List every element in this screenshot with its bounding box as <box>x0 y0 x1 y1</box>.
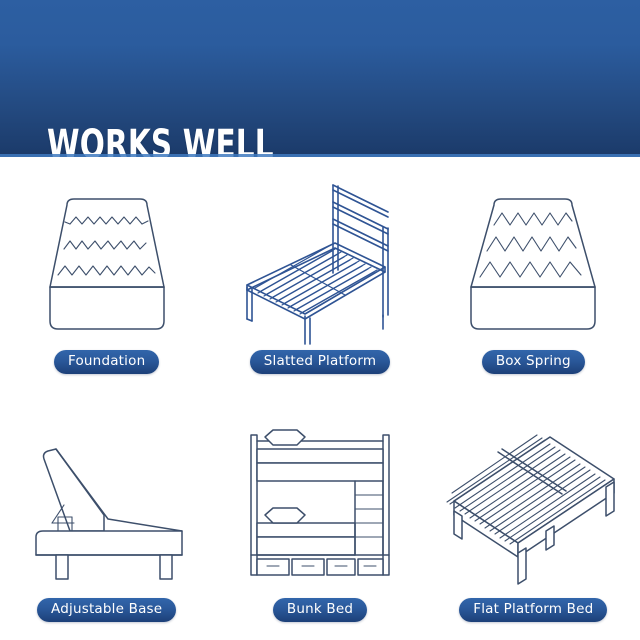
base-card-flat-platform-bed[interactable]: Flat Platform Bed <box>427 399 640 640</box>
page-title: WORKS WELL WITH THESE BASES <box>47 28 373 157</box>
base-label-box-spring: Box Spring <box>482 350 585 374</box>
works-well-with-these-bases-graphic: WORKS WELL WITH THESE BASES Foundation <box>0 0 640 640</box>
base-card-slatted-platform[interactable]: Slatted Platform <box>213 157 426 399</box>
mattress-foundation-icon <box>12 169 202 344</box>
flat-platform-bed-icon <box>438 419 628 594</box>
base-label-bunk-bed: Bunk Bed <box>273 598 367 622</box>
base-label-foundation: Foundation <box>54 350 159 374</box>
base-label-flat-platform-bed: Flat Platform Bed <box>459 598 607 622</box>
box-spring-icon <box>438 169 628 344</box>
base-card-foundation[interactable]: Foundation <box>0 157 213 399</box>
page-title-line-1: WORKS WELL <box>47 122 373 157</box>
base-card-box-spring[interactable]: Box Spring <box>427 157 640 399</box>
header-banner: WORKS WELL WITH THESE BASES <box>0 0 640 157</box>
base-card-adjustable-base[interactable]: Adjustable Base <box>0 399 213 640</box>
bases-grid: Foundation <box>0 157 640 640</box>
base-label-adjustable-base: Adjustable Base <box>37 598 176 622</box>
bunk-bed-icon <box>225 419 415 594</box>
adjustable-base-icon <box>12 419 202 594</box>
base-card-bunk-bed[interactable]: Bunk Bed <box>213 399 426 640</box>
slatted-platform-bed-icon <box>225 169 415 344</box>
base-label-slatted-platform: Slatted Platform <box>250 350 390 374</box>
